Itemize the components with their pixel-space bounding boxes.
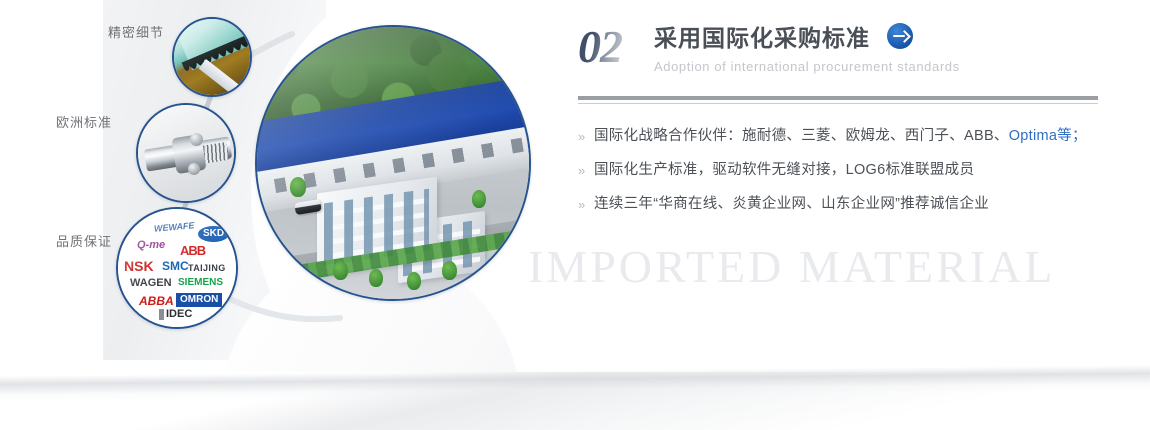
section-header: 02 采用国际化采购标准 Adoption of international p… (578, 24, 1098, 90)
bullet-text-plain: 国际化战略合作伙伴：施耐德、三菱、欧姆龙、西门子、ABB、 (594, 128, 1009, 144)
label-quality-assurance: 品质保证 (56, 231, 112, 250)
logo-abba: ABBA (139, 295, 174, 307)
bullet-text: 国际化生产标准，驱动软件无缝对接，LOG6标准联盟成员 (594, 160, 974, 181)
bullet-marker-icon: » (578, 126, 594, 147)
bullet-list: » 国际化战略合作伙伴：施耐德、三菱、欧姆龙、西门子、ABB、Optima等； … (578, 126, 1098, 215)
divider-thick-line (578, 96, 1098, 100)
logo-idec: IDEC (159, 309, 192, 320)
tree (290, 177, 306, 197)
logo-abb: ABB (180, 244, 205, 257)
label-precision-detail: 精密细节 (108, 22, 164, 41)
factory-building-photo (255, 25, 531, 301)
logo-wewafe: WEWAFE (154, 221, 195, 233)
list-item: » 连续三年“华商在线、炎黄企业网、山东企业网”推荐诚信企业 (578, 194, 1098, 215)
bullet-marker-icon: » (578, 160, 594, 181)
logo-list: WEWAFE SKD Q-me ABB NSK SMC TAIJING WAGE… (118, 209, 236, 327)
page-subtitle: Adoption of international procurement st… (654, 59, 960, 74)
tree (442, 261, 457, 280)
screw-knob-top (190, 133, 203, 146)
ball-screw-photo (136, 103, 236, 203)
logo-skd: SKD (198, 226, 229, 242)
tree (472, 190, 486, 208)
logo-nsk: NSK (124, 259, 154, 273)
list-item: » 国际化战略合作伙伴：施耐德、三菱、欧姆龙、西门子、ABB、Optima等； (578, 126, 1098, 147)
right-content: 02 采用国际化采购标准 Adoption of international p… (578, 24, 1098, 228)
logo-smc: SMC (162, 260, 189, 272)
header-divider (578, 96, 1098, 104)
logo-qme: Q-me (137, 240, 165, 251)
page-root: WEWAFE SKD Q-me ABB NSK SMC TAIJING WAGE… (0, 0, 1150, 430)
bullet-text-highlight: Optima等； (1009, 128, 1087, 144)
screw-knob-bottom (188, 163, 200, 175)
tree (333, 261, 348, 280)
section-number: 02 (578, 24, 622, 70)
logo-omron: OMRON (176, 293, 222, 307)
bullet-text: 国际化战略合作伙伴：施耐德、三菱、欧姆龙、西门子、ABB、Optima等； (594, 126, 1087, 147)
logo-wagen: WAGEN (130, 278, 172, 289)
section-header-texts: 采用国际化采购标准 Adoption of international proc… (654, 24, 960, 74)
brand-logos-collage: WEWAFE SKD Q-me ABB NSK SMC TAIJING WAGE… (116, 207, 238, 329)
title-row: 采用国际化采购标准 (654, 24, 960, 53)
bullet-marker-icon: » (578, 194, 594, 215)
label-european-standard: 欧洲标准 (56, 112, 112, 131)
watermark-text: IMPORTED MATERIAL (528, 240, 1055, 293)
logo-siemens: SIEMENS (178, 278, 223, 288)
bullet-text: 连续三年“华商在线、炎黄企业网、山东企业网”推荐诚信企业 (594, 194, 989, 215)
divider-thin-line (578, 103, 1098, 104)
page-title: 采用国际化采购标准 (654, 24, 870, 53)
list-item: » 国际化生产标准，驱动软件无缝对接，LOG6标准联盟成员 (578, 160, 1098, 181)
logo-taijing: TAIJING (188, 264, 226, 273)
precision-gear-photo (172, 17, 252, 97)
tree (369, 269, 383, 287)
arrow-right-circle-icon[interactable] (887, 23, 913, 49)
tree (407, 272, 421, 290)
